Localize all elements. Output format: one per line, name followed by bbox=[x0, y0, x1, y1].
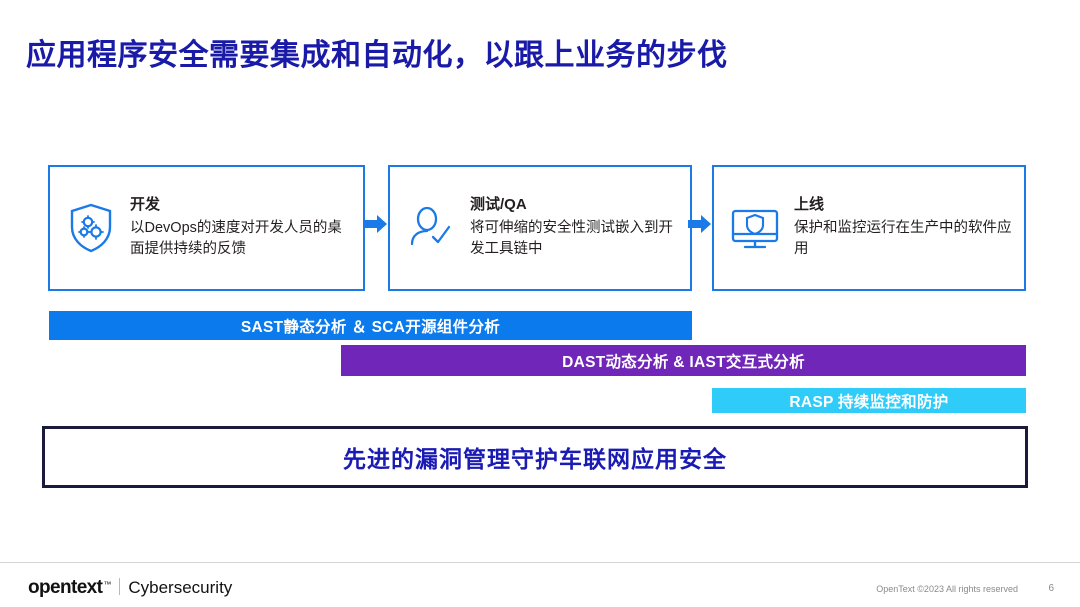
stage-title: 上线 bbox=[794, 196, 1016, 214]
arrow-right-icon bbox=[688, 213, 712, 235]
stage-title: 测试/QA bbox=[470, 196, 682, 214]
stage-description: 以DevOps的速度对开发人员的桌面提供持续的反馈 bbox=[130, 218, 355, 259]
stage-text-block: 上线 保护和监控运行在生产中的软件应用 bbox=[794, 196, 1016, 259]
summary-banner-text: 先进的漏洞管理守护车联网应用安全 bbox=[343, 440, 727, 474]
stage-card-production: 上线 保护和监控运行在生产中的软件应用 bbox=[712, 165, 1026, 291]
page-title: 应用程序安全需要集成和自动化，以跟上业务的步伐 bbox=[26, 30, 728, 74]
footer-divider bbox=[0, 562, 1080, 563]
capability-bar-sast: SAST静态分析 ＆ SCA开源组件分析 bbox=[49, 311, 692, 340]
capability-bar-rasp: RASP 持续监控和防护 bbox=[712, 388, 1026, 413]
user-check-icon bbox=[400, 197, 462, 259]
stage-text-block: 开发 以DevOps的速度对开发人员的桌面提供持续的反馈 bbox=[130, 196, 355, 259]
brand-product: Cybersecurity bbox=[128, 578, 232, 598]
stage-card-development: 开发 以DevOps的速度对开发人员的桌面提供持续的反馈 bbox=[48, 165, 365, 291]
stage-description: 将可伸缩的安全性测试嵌入到开发工具链中 bbox=[470, 218, 682, 259]
page-number: 6 bbox=[1048, 583, 1054, 594]
opentext-logo: opentext ™ Cybersecurity bbox=[28, 576, 232, 599]
stage-description: 保护和监控运行在生产中的软件应用 bbox=[794, 218, 1016, 259]
capability-bar-dast: DAST动态分析 & IAST交互式分析 bbox=[341, 345, 1026, 376]
monitor-shield-icon bbox=[724, 197, 786, 259]
brand-name: opentext bbox=[28, 577, 102, 599]
stage-title: 开发 bbox=[130, 196, 355, 214]
stage-card-testing-qa: 测试/QA 将可伸缩的安全性测试嵌入到开发工具链中 bbox=[388, 165, 692, 291]
trademark-symbol: ™ bbox=[103, 580, 111, 589]
shield-gears-icon bbox=[60, 197, 122, 259]
arrow-right-icon bbox=[364, 213, 388, 235]
summary-banner: 先进的漏洞管理守护车联网应用安全 bbox=[42, 426, 1028, 488]
stage-text-block: 测试/QA 将可伸缩的安全性测试嵌入到开发工具链中 bbox=[470, 196, 682, 259]
brand-divider bbox=[119, 578, 120, 595]
copyright-text: OpenText ©2023 All rights reserved bbox=[876, 584, 1018, 594]
